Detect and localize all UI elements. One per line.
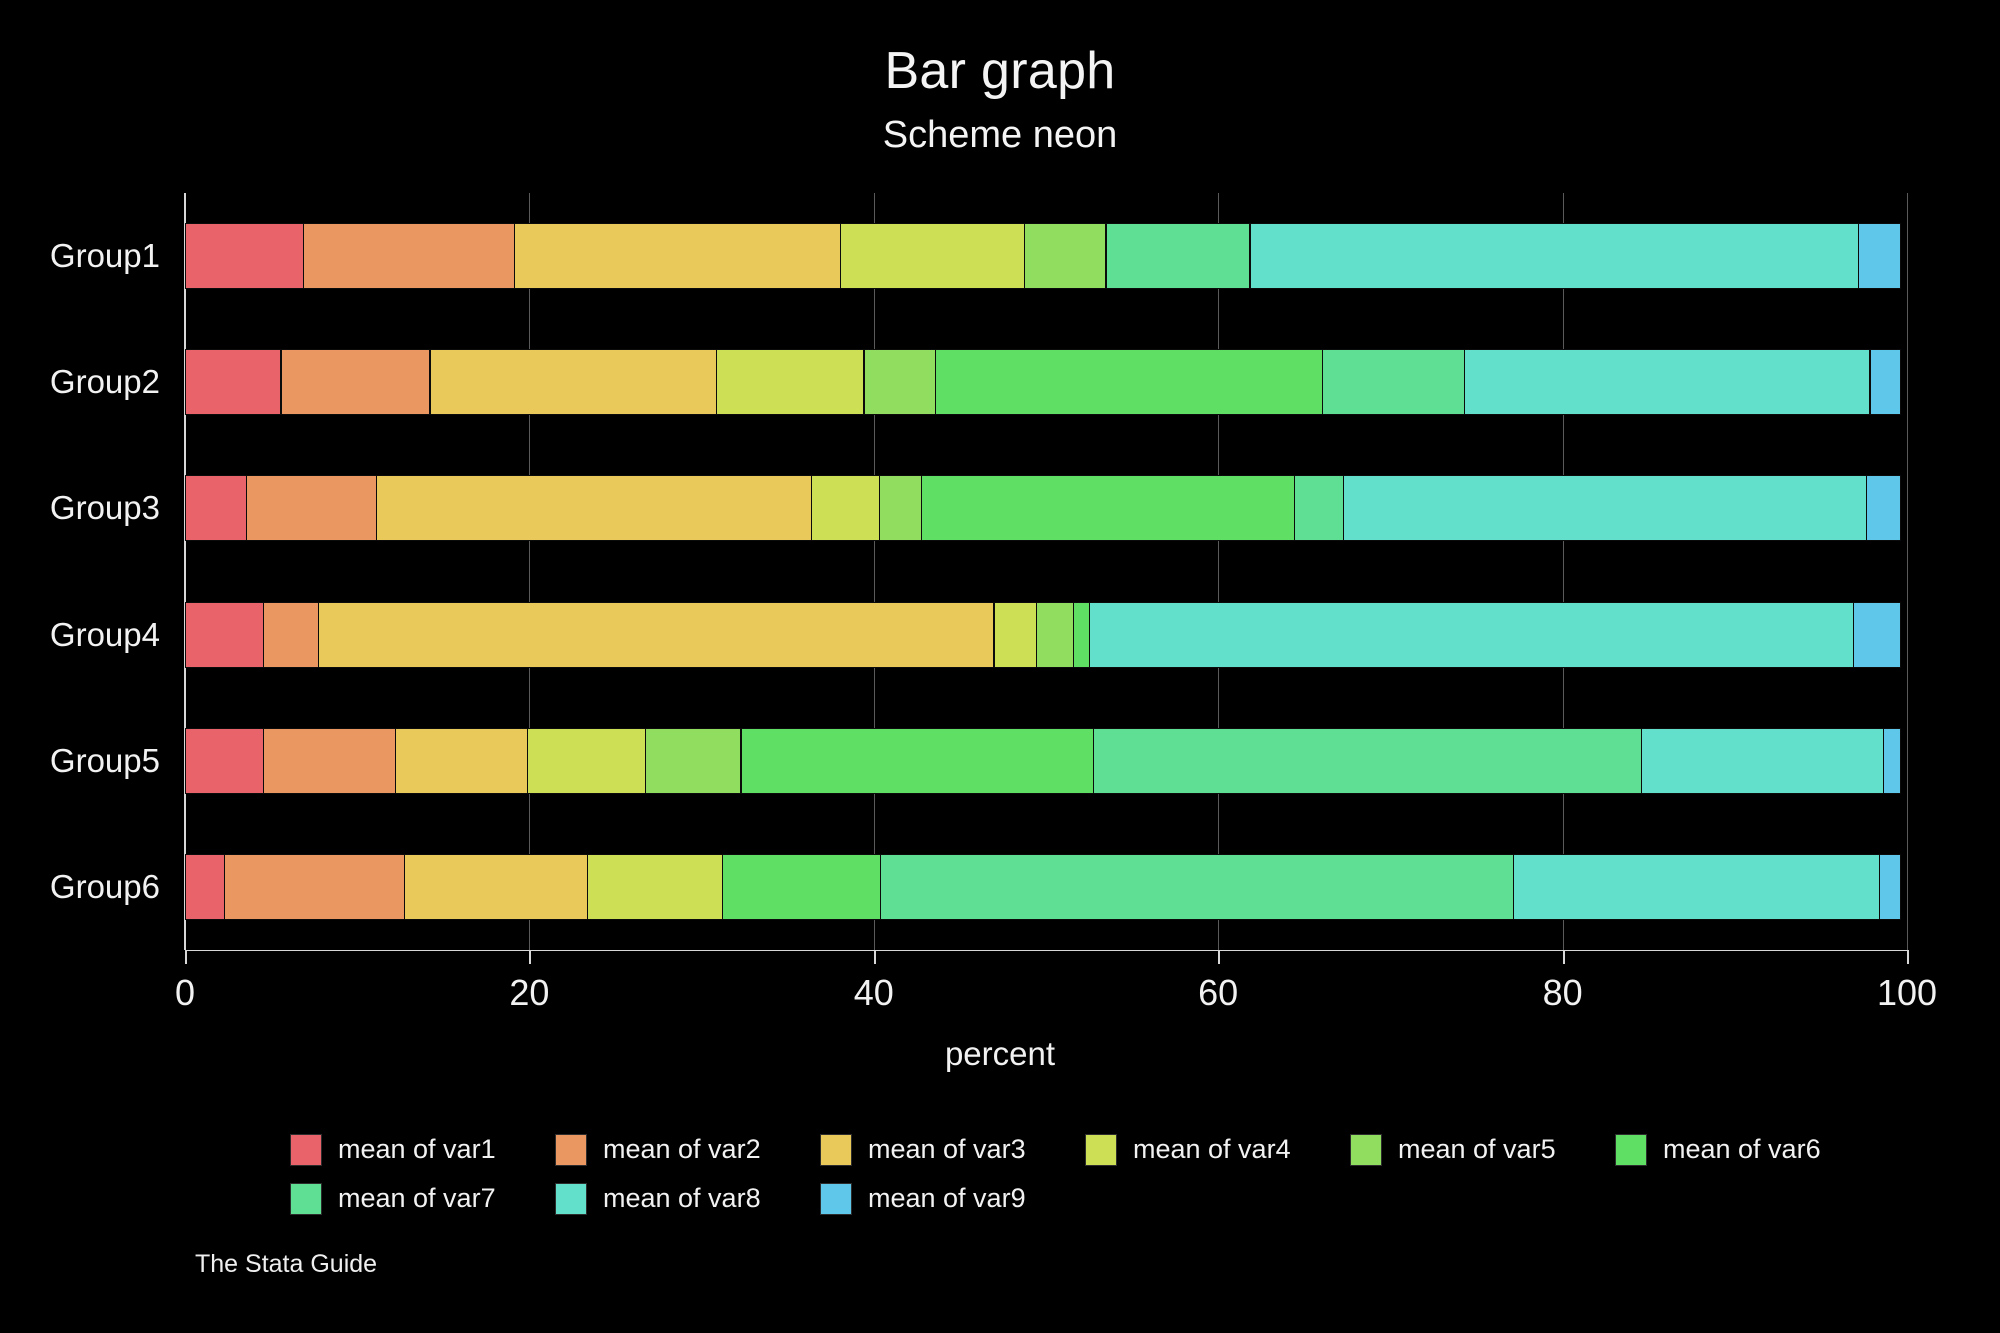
bar-segment[interactable] (281, 349, 431, 415)
bar-segment[interactable] (1879, 854, 1901, 920)
bar-row[interactable] (185, 223, 1907, 289)
bar-segment[interactable] (318, 602, 995, 668)
legend-label: mean of var8 (603, 1183, 761, 1214)
bar-segment[interactable] (1883, 728, 1900, 794)
gridline (874, 193, 875, 950)
bar-row[interactable] (185, 728, 1907, 794)
bar-segment[interactable] (1073, 602, 1090, 668)
bar-segment[interactable] (185, 223, 304, 289)
legend-swatch-icon (555, 1183, 587, 1215)
x-axis-title: percent (0, 1035, 2000, 1073)
bar-segment[interactable] (246, 475, 377, 541)
legend-label: mean of var9 (868, 1183, 1026, 1214)
legend-row: mean of var1mean of var2mean of var3mean… (290, 1125, 1850, 1174)
legend-label: mean of var1 (338, 1134, 496, 1165)
bar-segment[interactable] (1093, 728, 1642, 794)
bar-segment[interactable] (880, 854, 1514, 920)
legend-label: mean of var6 (1663, 1134, 1821, 1165)
x-axis-tick (874, 950, 876, 964)
x-axis-tick (1563, 950, 1565, 964)
x-axis-tick (1218, 950, 1220, 964)
legend-item[interactable]: mean of var4 (1085, 1134, 1350, 1166)
y-axis-line (184, 193, 186, 950)
gridline (529, 193, 530, 950)
legend: mean of var1mean of var2mean of var3mean… (290, 1125, 1850, 1223)
y-axis-label-group1: Group1 (0, 223, 160, 289)
x-axis-tick-label: 40 (794, 972, 954, 1014)
plot-area: Group1Group2Group3Group4Group5Group6 (185, 193, 1907, 950)
bar-row[interactable] (185, 854, 1907, 920)
legend-item[interactable]: mean of var8 (555, 1183, 820, 1215)
bar-segment[interactable] (1294, 475, 1344, 541)
bar-segment[interactable] (404, 854, 588, 920)
x-axis-tick-label: 60 (1138, 972, 1298, 1014)
legend-swatch-icon (820, 1134, 852, 1166)
legend-swatch-icon (1350, 1134, 1382, 1166)
bar-segment[interactable] (879, 475, 922, 541)
bar-segment[interactable] (840, 223, 1024, 289)
bar-segment[interactable] (263, 728, 396, 794)
y-axis-label-group2: Group2 (0, 349, 160, 415)
gridline (1563, 193, 1564, 950)
bar-segment[interactable] (1024, 223, 1107, 289)
legend-item[interactable]: mean of var7 (290, 1183, 555, 1215)
bar-segment[interactable] (527, 728, 646, 794)
bar-segment[interactable] (935, 349, 1322, 415)
bar-segment[interactable] (994, 602, 1037, 668)
bar-segment[interactable] (224, 854, 405, 920)
bar-segment[interactable] (1641, 728, 1884, 794)
x-axis-tick (1907, 950, 1909, 964)
x-axis-tick-label: 100 (1827, 972, 1987, 1014)
y-axis-label-group3: Group3 (0, 475, 160, 541)
bar-segment[interactable] (1106, 223, 1251, 289)
legend-swatch-icon (1085, 1134, 1117, 1166)
legend-item[interactable]: mean of var6 (1615, 1134, 1880, 1166)
bar-segment[interactable] (864, 349, 936, 415)
legend-swatch-icon (1615, 1134, 1647, 1166)
bar-segment[interactable] (263, 602, 318, 668)
bar-segment[interactable] (1866, 475, 1900, 541)
bar-row[interactable] (185, 349, 1907, 415)
bar-segment[interactable] (185, 728, 264, 794)
legend-item[interactable]: mean of var1 (290, 1134, 555, 1166)
bar-segment[interactable] (1036, 602, 1074, 668)
legend-swatch-icon (290, 1183, 322, 1215)
bar-segment[interactable] (1322, 349, 1465, 415)
legend-swatch-icon (290, 1134, 322, 1166)
legend-item[interactable]: mean of var3 (820, 1134, 1085, 1166)
bar-segment[interactable] (1858, 223, 1901, 289)
source-note: The Stata Guide (195, 1250, 377, 1279)
bar-segment[interactable] (514, 223, 841, 289)
legend-label: mean of var7 (338, 1183, 496, 1214)
bar-segment[interactable] (185, 854, 225, 920)
bar-segment[interactable] (921, 475, 1295, 541)
legend-item[interactable]: mean of var9 (820, 1183, 1085, 1215)
bar-chart: Bar graph Scheme neon Group1Group2Group3… (0, 0, 2000, 1333)
legend-label: mean of var4 (1133, 1134, 1291, 1165)
gridline (1907, 193, 1908, 950)
x-axis-tick-label: 0 (105, 972, 265, 1014)
bar-segment[interactable] (645, 728, 741, 794)
y-axis-label-group5: Group5 (0, 728, 160, 794)
legend-label: mean of var5 (1398, 1134, 1556, 1165)
bar-segment[interactable] (587, 854, 723, 920)
legend-item[interactable]: mean of var5 (1350, 1134, 1615, 1166)
bar-row[interactable] (185, 602, 1907, 668)
bar-segment[interactable] (811, 475, 880, 541)
bar-segment[interactable] (716, 349, 864, 415)
bar-segment[interactable] (1343, 475, 1866, 541)
bar-segment[interactable] (303, 223, 515, 289)
bar-segment[interactable] (185, 475, 247, 541)
x-axis-tick-label: 80 (1483, 972, 1643, 1014)
legend-label: mean of var2 (603, 1134, 761, 1165)
bar-segment[interactable] (185, 349, 281, 415)
legend-item[interactable]: mean of var2 (555, 1134, 820, 1166)
bar-segment[interactable] (1853, 602, 1901, 668)
bar-segment[interactable] (185, 602, 264, 668)
y-axis-label-group4: Group4 (0, 602, 160, 668)
bar-segment[interactable] (741, 728, 1094, 794)
legend-row: mean of var7mean of var8mean of var9 (290, 1174, 1850, 1223)
bar-row[interactable] (185, 475, 1907, 541)
y-axis-label-group6: Group6 (0, 854, 160, 920)
gridline (1218, 193, 1219, 950)
page-subtitle: Scheme neon (0, 108, 2000, 162)
bar-segment[interactable] (722, 854, 880, 920)
legend-label: mean of var3 (868, 1134, 1026, 1165)
bar-segment[interactable] (430, 349, 718, 415)
x-axis-tick (529, 950, 531, 964)
bar-segment[interactable] (376, 475, 812, 541)
bar-segment[interactable] (1464, 349, 1870, 415)
x-axis-tick-label: 20 (449, 972, 609, 1014)
bar-segment[interactable] (395, 728, 528, 794)
bar-segment[interactable] (1250, 223, 1860, 289)
legend-swatch-icon (820, 1183, 852, 1215)
x-axis-line: 020406080100 (185, 950, 1907, 951)
bar-segment[interactable] (1513, 854, 1880, 920)
bar-segment[interactable] (1089, 602, 1854, 668)
page-title: Bar graph (0, 40, 2000, 102)
x-axis-tick (185, 950, 187, 964)
title-block: Bar graph Scheme neon (0, 40, 2000, 162)
bar-segment[interactable] (1870, 349, 1901, 415)
legend-swatch-icon (555, 1134, 587, 1166)
